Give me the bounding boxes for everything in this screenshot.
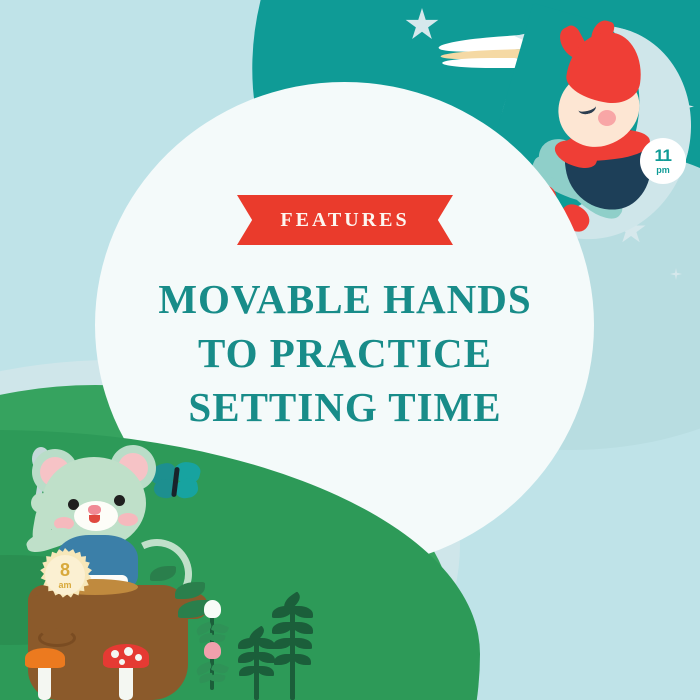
headline-line-2: TO PRACTICE: [95, 326, 595, 380]
badge-morning-time: 8 am: [45, 555, 85, 595]
headline-line-3: SETTING TIME: [95, 380, 595, 434]
badge-night-meridiem: pm: [656, 166, 670, 175]
poster-canvas: 11 pm: [0, 0, 700, 700]
page-title: MOVABLE HANDS TO PRACTICE SETTING TIME: [95, 272, 595, 434]
badge-night-hour: 11: [655, 147, 672, 164]
features-ribbon-label: FEATURES: [280, 209, 409, 232]
badge-morning-hour: 8: [60, 561, 70, 579]
badge-morning-meridiem: am: [58, 581, 71, 590]
badge-night-time: 11 pm: [640, 138, 686, 184]
orange-mushroom-icon: [25, 648, 65, 700]
headline-line-1: MOVABLE HANDS: [95, 272, 595, 326]
pink-tulip-icon: [196, 642, 228, 692]
features-ribbon: FEATURES: [237, 195, 453, 245]
red-spotted-mushroom-icon: [103, 644, 149, 700]
fern-plant-icon: [268, 596, 318, 700]
